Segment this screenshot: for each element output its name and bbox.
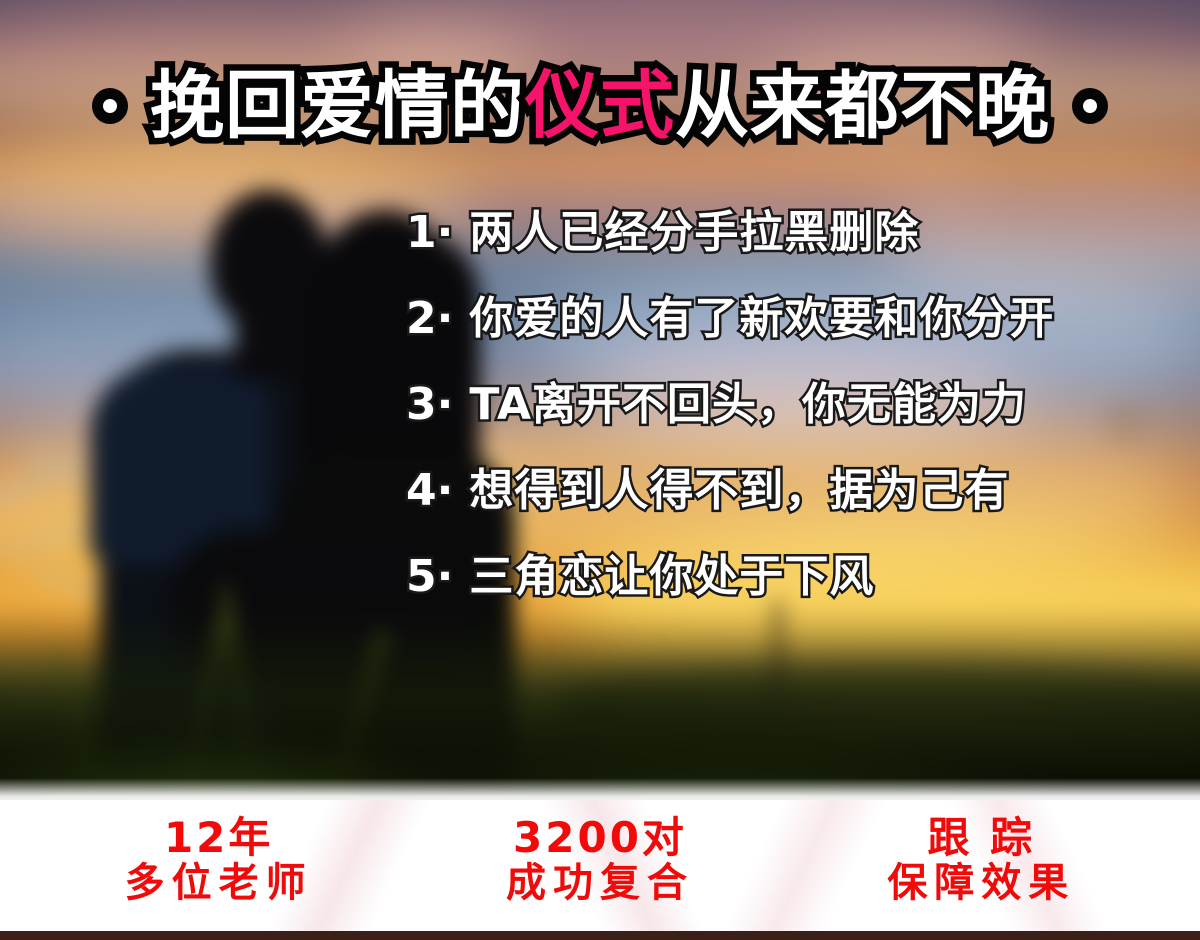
- list-item-label: 你爱的人有了新欢要和你分开: [469, 282, 1054, 346]
- bullet-dot-left-icon: [92, 88, 128, 124]
- stats-bar: 12年 多位老师 3200对 成功复合 跟 踪 保障效果: [0, 800, 1200, 940]
- grass-ground: [0, 610, 1200, 800]
- stat-value: 3200对: [409, 814, 790, 861]
- footer-accent-strip: [0, 931, 1200, 940]
- title-accent: 仪式: [525, 63, 675, 149]
- stat-value: 12年: [28, 814, 409, 861]
- list-item: 2· 你爱的人有了新欢要和你分开: [406, 282, 1186, 368]
- stat-value: 跟 踪: [791, 814, 1172, 861]
- list-item: 4· 想得到人得不到，据为己有: [406, 454, 1186, 540]
- list-item-label: TA离开不回头，你无能为力: [469, 368, 1027, 432]
- stat-experience: 12年 多位老师: [28, 814, 409, 940]
- title-suffix: 从来都不晚: [675, 63, 1050, 149]
- list-item-label: 三角恋让你处于下风: [469, 540, 874, 604]
- symptom-list: 1· 两人已经分手拉黑删除 2· 你爱的人有了新欢要和你分开 3· TA离开不回…: [406, 196, 1186, 626]
- list-item: 1· 两人已经分手拉黑删除: [406, 196, 1186, 282]
- page-title: 挽回爱情的仪式从来都不晚: [150, 69, 1050, 143]
- headline-row: 挽回爱情的仪式从来都不晚: [0, 52, 1200, 160]
- poster-root: 想 挽回爱情的仪式从来都不晚 1· 两人已经分手拉黑删除 2· 你爱的人有了新欢…: [0, 0, 1200, 940]
- stat-label: 保障效果: [791, 861, 1172, 906]
- stat-successful-cases: 3200对 成功复合: [409, 814, 790, 940]
- list-item-label: 想得到人得不到，据为己有: [469, 454, 1009, 518]
- stat-label: 多位老师: [28, 861, 409, 906]
- list-item-number: 1·: [406, 207, 453, 258]
- stat-follow-up: 跟 踪 保障效果: [791, 814, 1172, 940]
- bullet-dot-right-icon: [1072, 88, 1108, 124]
- list-item: 3· TA离开不回头，你无能为力: [406, 368, 1186, 454]
- list-item-number: 2·: [406, 293, 453, 344]
- list-item-number: 4·: [406, 465, 453, 516]
- list-item-label: 两人已经分手拉黑删除: [469, 196, 919, 260]
- list-item-number: 3·: [406, 379, 453, 430]
- title-prefix: 挽回爱情的: [150, 63, 525, 149]
- list-item-number: 5·: [406, 551, 453, 602]
- stat-label: 成功复合: [409, 861, 790, 906]
- list-item: 5· 三角恋让你处于下风: [406, 540, 1186, 626]
